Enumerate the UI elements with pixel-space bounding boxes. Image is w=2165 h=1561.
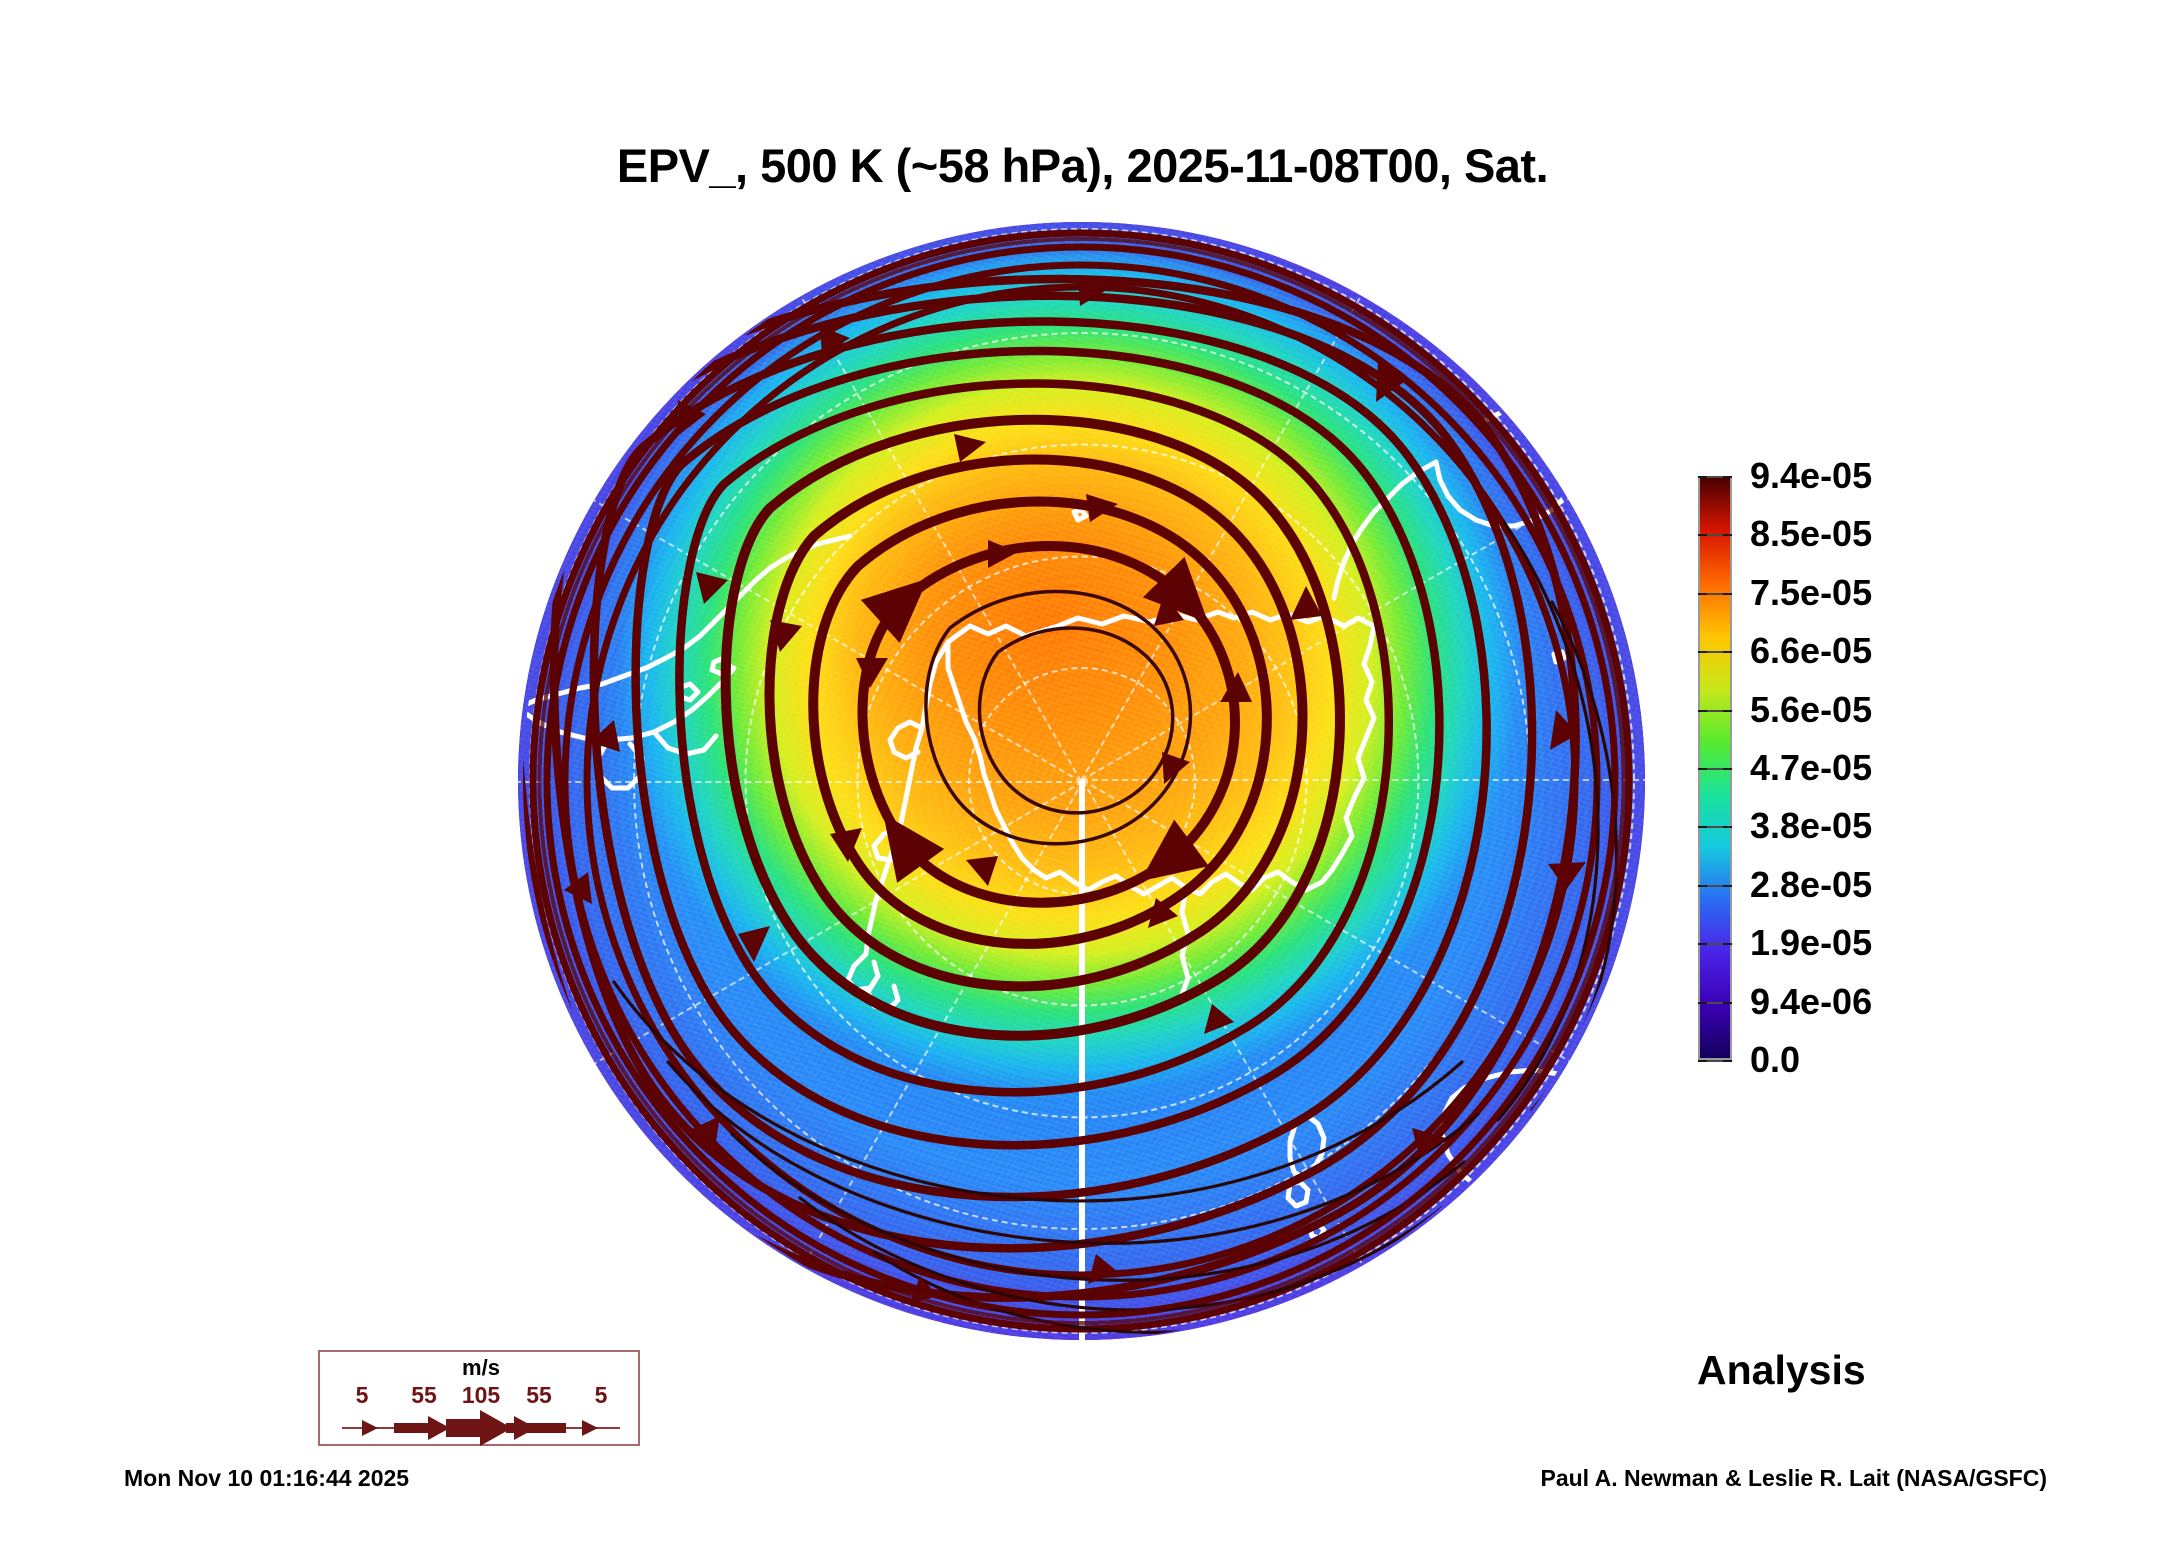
generation-timestamp: Mon Nov 10 01:16:44 2025 bbox=[124, 1465, 409, 1492]
polar-map-panel[interactable] bbox=[518, 222, 1645, 1340]
colorbar-label: 9.4e-06 bbox=[1750, 981, 1872, 1023]
author-credit: Paul A. Newman & Leslie R. Lait (NASA/GS… bbox=[1540, 1465, 2047, 1492]
wind-speed-legend: m/s 5 55 105 55 5 bbox=[318, 1350, 640, 1446]
colorbar-tick bbox=[1698, 651, 1732, 653]
colorbar-label: 7.5e-05 bbox=[1750, 572, 1872, 614]
map-disc bbox=[518, 222, 1645, 1340]
colorbar-tick bbox=[1698, 768, 1732, 770]
wind-legend-value: 55 bbox=[411, 1382, 437, 1409]
colorbar-label: 4.7e-05 bbox=[1750, 747, 1872, 789]
colorbar-tick bbox=[1698, 710, 1732, 712]
colorbar-tick bbox=[1698, 885, 1732, 887]
analysis-label: Analysis bbox=[1697, 1347, 1866, 1394]
colorbar-label: 5.6e-05 bbox=[1750, 689, 1872, 731]
epv-equatorward-rim bbox=[518, 222, 1645, 1340]
page-title: EPV_, 500 K (~58 hPa), 2025-11-08T00, Sa… bbox=[0, 138, 2165, 193]
colorbar-tick bbox=[1698, 1060, 1732, 1062]
wind-legend-value: 55 bbox=[526, 1382, 552, 1409]
wind-legend-value: 105 bbox=[462, 1382, 500, 1409]
colorbar-label: 1.9e-05 bbox=[1750, 922, 1872, 964]
wind-legend-value: 5 bbox=[356, 1382, 369, 1409]
colorbar-tick bbox=[1698, 534, 1732, 536]
wind-legend-value: 5 bbox=[595, 1382, 608, 1409]
colorbar-label: 2.8e-05 bbox=[1750, 864, 1872, 906]
colorbar-tick bbox=[1698, 593, 1732, 595]
wind-legend-unit: m/s bbox=[320, 1355, 642, 1381]
wind-arrow-icon bbox=[320, 1408, 642, 1448]
colorbar-tick bbox=[1698, 1002, 1732, 1004]
colorbar-label: 3.8e-05 bbox=[1750, 805, 1872, 847]
colorbar-tick bbox=[1698, 943, 1732, 945]
colorbar-label: 6.6e-05 bbox=[1750, 630, 1872, 672]
colorbar-tick bbox=[1698, 826, 1732, 828]
colorbar-label: 8.5e-05 bbox=[1750, 513, 1872, 555]
colorbar-tick bbox=[1698, 476, 1732, 478]
colorbar-label: 9.4e-05 bbox=[1750, 455, 1872, 497]
colorbar-label: 0.0 bbox=[1750, 1039, 1800, 1081]
